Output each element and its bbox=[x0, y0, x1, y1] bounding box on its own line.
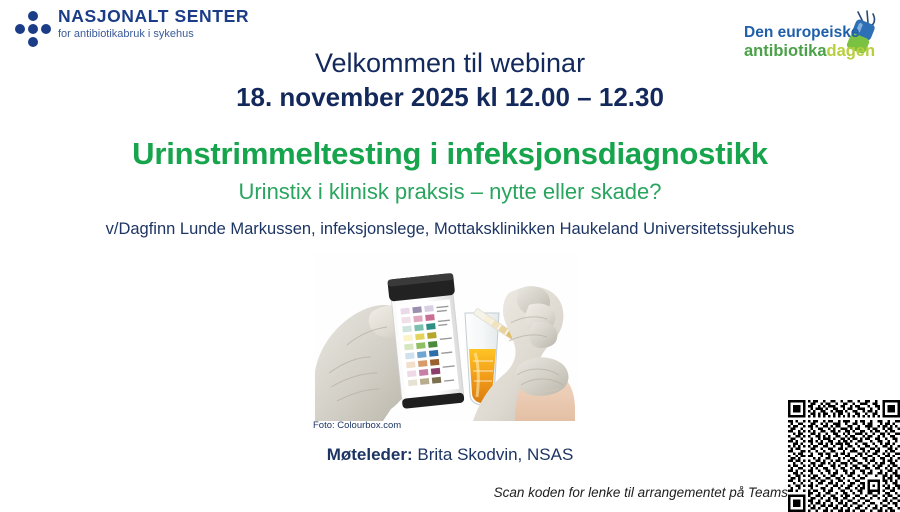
nasjonalt-senter-logo: NASJONALT SENTER for antibiotikabruk i s… bbox=[8, 4, 248, 50]
nsas-dot-top bbox=[28, 11, 38, 21]
speaker-credit: v/Dagfinn Lunde Markussen, infeksjonsleg… bbox=[0, 219, 900, 240]
nsas-dot-left bbox=[15, 24, 25, 34]
nsas-dot-right bbox=[41, 24, 51, 34]
moderator-label: Møteleder: bbox=[327, 445, 413, 464]
nsas-logo-subtitle: for antibiotikabruk i sykehus bbox=[58, 27, 248, 42]
urine-dipstick-photo bbox=[313, 253, 579, 421]
photo-illustration bbox=[313, 253, 579, 421]
nsas-dot-cluster-icon bbox=[12, 8, 54, 50]
eaad-logo-line1: Den europeiske bbox=[744, 24, 875, 42]
nsas-dot-center bbox=[28, 24, 38, 34]
moderator-line: Møteleder: Brita Skodvin, NSAS bbox=[0, 443, 900, 466]
event-datetime: 18. november 2025 kl 12.00 – 12.30 bbox=[0, 82, 900, 113]
nsas-logo-text: NASJONALT SENTER for antibiotikabruk i s… bbox=[58, 6, 248, 42]
nsas-dot-bottom bbox=[28, 37, 38, 47]
page-subtitle: Urinstix i klinisk praksis – nytte eller… bbox=[0, 178, 900, 205]
welcome-line: Velkommen til webinar bbox=[0, 47, 900, 79]
photo-credit: Foto: Colourbox.com bbox=[313, 419, 401, 432]
webinar-slide: { "brand_left": { "name": "nasjonalt-sen… bbox=[0, 0, 900, 506]
scan-instruction: Scan koden for lenke til arrangementet p… bbox=[494, 484, 788, 502]
teams-event-qr-code[interactable] bbox=[788, 400, 900, 512]
page-title: Urinstrimmeltesting i infeksjonsdiagnost… bbox=[0, 136, 900, 172]
nsas-logo-title: NASJONALT SENTER bbox=[58, 6, 248, 27]
moderator-name: Brita Skodvin, NSAS bbox=[413, 445, 574, 464]
